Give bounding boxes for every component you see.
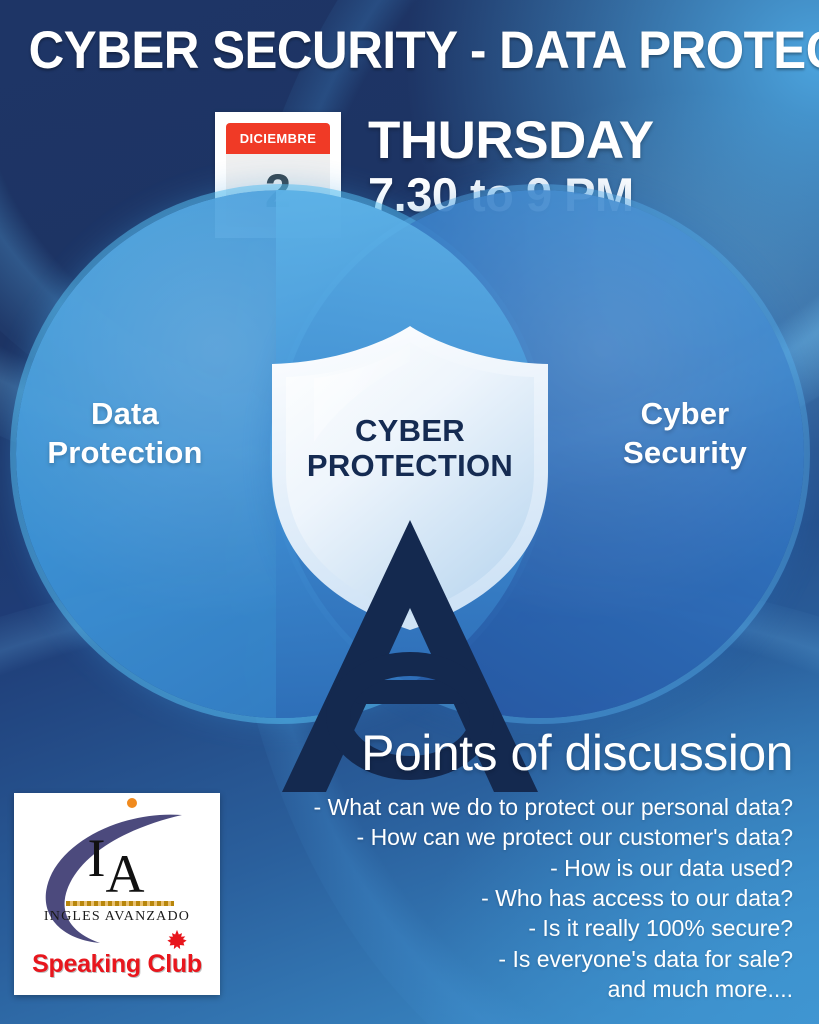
venn-label-left: Data Protection	[30, 395, 220, 473]
list-item: - What can we do to protect our personal…	[233, 792, 793, 822]
list-item: and much more....	[233, 974, 793, 1004]
logo-ingles-avanzado: IA INGLES AVANZADO Speaking Club	[14, 793, 220, 995]
logo-monogram-a: A	[105, 847, 146, 901]
logo-subtitle: INGLES AVANZADO	[14, 909, 220, 925]
venn-diagram: Data Protection Cyber Security	[0, 190, 819, 750]
list-item: - How can we protect our customer's data…	[233, 822, 793, 852]
logo-divider	[66, 901, 174, 906]
discussion-list: - What can we do to protect our personal…	[233, 792, 793, 1005]
logo-club-label: Speaking Club	[14, 950, 220, 979]
discussion-heading: Points of discussion	[361, 728, 793, 778]
poster-title: CYBER SECURITY - DATA PROTECTION	[29, 20, 791, 81]
event-weekday: THURSDAY	[368, 112, 654, 169]
logo-monogram-i: I	[88, 828, 108, 888]
venn-label-left-line1: Data	[30, 395, 220, 434]
list-item: - Is it really 100% secure?	[233, 913, 793, 943]
shield-icon: CYBER PROTECTION	[262, 322, 558, 634]
venn-label-left-line2: Protection	[30, 434, 220, 473]
list-item: - Is everyone's data for sale?	[233, 944, 793, 974]
maple-leaf-icon	[166, 929, 188, 951]
shield-label-line2: PROTECTION	[262, 449, 558, 484]
shield-label: CYBER PROTECTION	[262, 414, 558, 483]
shield-label-line1: CYBER	[262, 414, 558, 449]
poster-canvas: CYBER SECURITY - DATA PROTECTION DICIEMB…	[0, 0, 819, 1024]
logo-dot-icon	[127, 798, 137, 808]
logo-monogram: IA	[14, 831, 220, 885]
list-item: - How is our data used?	[233, 853, 793, 883]
venn-label-right-line2: Security	[590, 434, 780, 473]
venn-label-right: Cyber Security	[590, 395, 780, 473]
calendar-month-label: DICIEMBRE	[226, 123, 330, 154]
venn-label-right-line1: Cyber	[590, 395, 780, 434]
list-item: - Who has access to our data?	[233, 883, 793, 913]
